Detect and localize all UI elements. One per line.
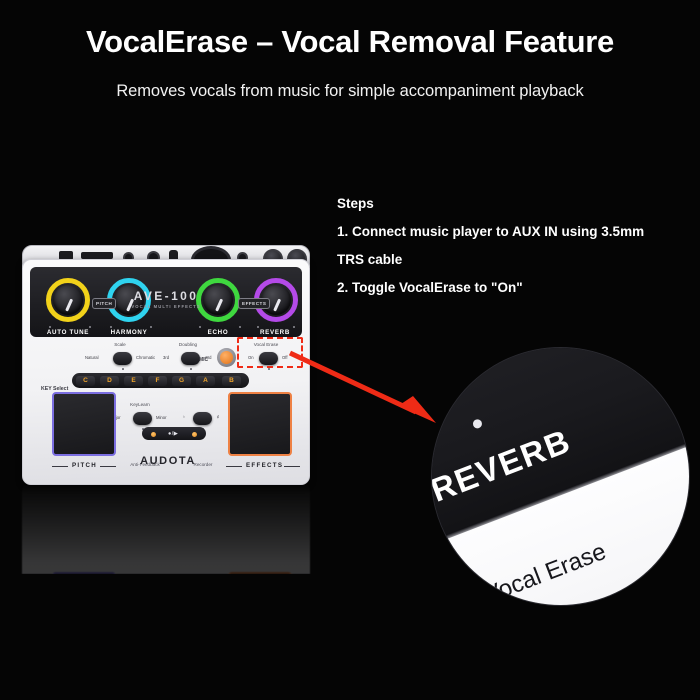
record-play-icon: ●/▶: [168, 431, 178, 437]
steps-block: Steps 1. Connect music player to AUX IN …: [337, 190, 687, 302]
key-button-d[interactable]: D: [100, 376, 119, 386]
knob-label-auto-tune: AUTO TUNE: [33, 329, 103, 336]
reflection-pedal-effects: [228, 572, 292, 636]
knob-tick: [110, 326, 112, 328]
key-button-f[interactable]: F: [148, 376, 167, 386]
label-scale-chromatic: Chromatic: [136, 355, 155, 360]
knob-cap: [203, 285, 233, 315]
knob-indicator: [273, 299, 281, 312]
pitch-rule-left: [52, 466, 68, 467]
pitch-rule-right: [100, 466, 116, 467]
switch-flat-sharp[interactable]: [193, 412, 212, 425]
knob-indicator: [215, 299, 223, 312]
pedal-pitch[interactable]: [52, 392, 116, 456]
label-keylearn-minor: Minor: [156, 415, 166, 420]
reflection-maker-logo: AUDOTA: [128, 587, 208, 599]
screenshot-canvas: VocalErase – Vocal Removal Feature Remov…: [0, 0, 700, 700]
reflection-footswitch-bar: [142, 614, 206, 627]
label-sharp: ♯: [217, 414, 219, 419]
step-line-1: 1. Connect music player to AUX IN using …: [337, 218, 687, 246]
label-scale: Scale: [95, 342, 145, 347]
knob-tick: [49, 326, 51, 328]
key-button-g[interactable]: G: [172, 376, 191, 386]
steps-heading: Steps: [337, 190, 687, 218]
maker-logo: AUDOTA: [128, 455, 208, 467]
knob-tick: [150, 326, 152, 328]
knob-mic-cap: [220, 351, 233, 364]
tag-effects: EFFECTS: [238, 298, 270, 309]
label-mic: MIC: [199, 357, 208, 363]
knob-mic[interactable]: [217, 348, 236, 367]
pedal-label-effects: EFFECTS: [246, 462, 283, 469]
reflection-pedal-label-effects: EFFECTS: [246, 585, 283, 592]
knob-tick: [293, 326, 295, 328]
key-button-e[interactable]: E: [124, 376, 143, 386]
knob-tick: [199, 326, 201, 328]
tag-pitch: PITCH: [92, 298, 116, 309]
label-scale-natural: Natural: [85, 355, 99, 360]
knob-label-reverb: REVERB: [240, 329, 310, 336]
led-recorder: [192, 432, 197, 437]
switch-doubling[interactable]: [181, 352, 200, 365]
knob-cap: [53, 285, 83, 315]
device-branding: AVE-100 VOCAL MULTI EFFECTS: [126, 289, 206, 309]
reflection-pedal-label-pitch: PITCH: [72, 585, 97, 592]
switch-tick: [190, 368, 192, 370]
page-title: VocalErase – Vocal Removal Feature: [0, 24, 700, 60]
switch-tick: [122, 368, 124, 370]
step-line-2: TRS cable: [337, 246, 687, 274]
switch-scale[interactable]: [113, 352, 132, 365]
key-button-c[interactable]: C: [76, 376, 95, 386]
label-doubling-3rd: 3rd: [163, 355, 169, 360]
knob-tick: [89, 326, 91, 328]
model-name: AVE-100: [126, 289, 206, 303]
model-tagline: VOCAL MULTI EFFECTS: [126, 304, 206, 309]
knob-label-harmony: HARMONY: [94, 329, 164, 336]
fx-rule-right: [284, 466, 300, 467]
label-flat: ♭: [183, 414, 185, 419]
key-button-a[interactable]: A: [196, 376, 215, 386]
magnifier-content: REVERB Vocal Erase On Off (Aux in) B: [432, 348, 689, 605]
page-subtitle: Removes vocals from music for simple acc…: [0, 82, 700, 101]
key-button-b[interactable]: B: [222, 376, 241, 386]
label-doubling: Doubling: [163, 342, 213, 347]
fx-rule-left: [226, 466, 242, 467]
reflection-pedal-pitch: [52, 572, 116, 636]
step-line-3: 2. Toggle VocalErase to "On": [337, 274, 687, 302]
knob-auto-tune[interactable]: [46, 278, 90, 322]
knob-tick: [239, 326, 241, 328]
port-sd: [81, 252, 113, 259]
switch-tick: [268, 368, 270, 370]
footswitch-bar: ●/▶: [142, 427, 206, 440]
reflection-led-2: [192, 618, 197, 623]
key-select-bar: C D E F G A B: [72, 373, 249, 388]
reflection-led-1: [151, 618, 156, 623]
label-keylearn: KeyLearn: [115, 402, 165, 407]
led-anti-feedback: [151, 432, 156, 437]
magnifier-circle: REVERB Vocal Erase On Off (Aux in) B: [432, 348, 689, 605]
device-reflection: AUDOTA PITCH EFFECTS: [16, 482, 316, 574]
knob-indicator: [65, 299, 73, 312]
knob-tick: [257, 326, 259, 328]
effects-panel: AUTO TUNE HARMONY ECHO: [30, 267, 302, 337]
pedal-label-pitch: PITCH: [72, 462, 97, 469]
switch-keylearn[interactable]: [133, 412, 152, 425]
